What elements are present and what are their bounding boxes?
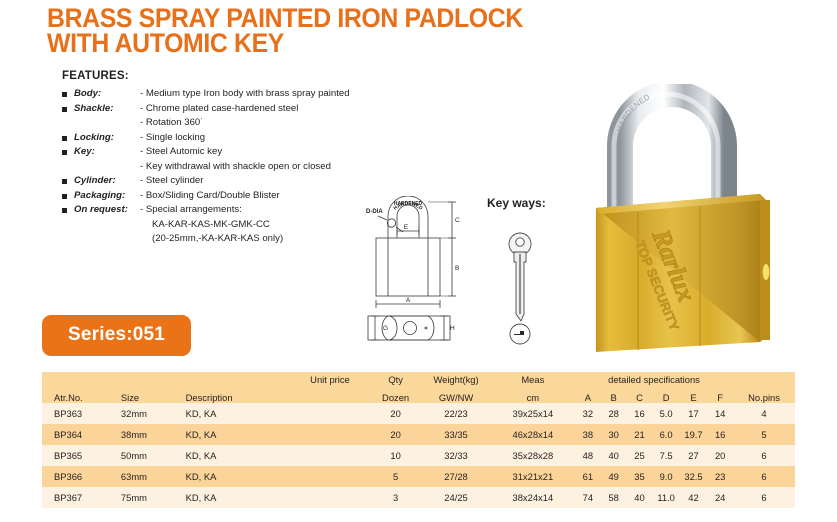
square-bullet-icon (62, 107, 67, 112)
square-bullet-icon (62, 136, 67, 141)
cell-spec-f: 23 (707, 466, 733, 487)
feature-label: Cylinder: (74, 175, 140, 187)
specifications-table: Unit price Qty Weight(kg) Meas detailed … (42, 372, 795, 508)
cell-atr-no: BP364 (42, 424, 109, 445)
header-atr-no: Atr.No. (42, 386, 109, 403)
key-blank-diagram (487, 222, 557, 347)
square-bullet-icon (62, 179, 67, 184)
cell-unit-price (290, 487, 370, 508)
cell-spec-e: 19.7 (680, 424, 707, 445)
dim-label-h: H (450, 325, 455, 332)
cell-weight: 22/23 (421, 403, 490, 424)
table-row: BP36550mmKD, KA1032/3335x28x284840257.52… (42, 445, 795, 466)
header-col-e: E (680, 386, 707, 403)
product-photo: HARDENED Rarlux TOP SECURITY (592, 84, 816, 366)
header-col-b: B (601, 386, 627, 403)
page-title-line-2: WITH AUTOMIC KEY (47, 31, 562, 56)
cell-size: 38mm (109, 424, 174, 445)
cell-unit-price (290, 466, 370, 487)
cell-spec-a: 32 (575, 403, 601, 424)
cell-spec-f: 20 (707, 445, 733, 466)
square-bullet-icon (62, 150, 67, 155)
dim-label-g: G (383, 325, 388, 332)
cell-spec-b: 30 (601, 424, 627, 445)
keyways-title: Key ways: (487, 196, 577, 210)
feature-row-packaging: Packaging: - Box/Sliding Card/Double Bli… (62, 190, 362, 202)
cell-atr-no: BP367 (42, 487, 109, 508)
header-detailed-specifications: detailed specifications (575, 372, 733, 386)
cell-spec-b: 58 (601, 487, 627, 508)
cell-spec-a: 74 (575, 487, 601, 508)
cell-spec-e: 27 (680, 445, 707, 466)
feature-row-key: Key: - Steel Automic key (62, 146, 362, 158)
header-unit-price: Unit price (290, 372, 370, 386)
header-col-f: F (707, 386, 733, 403)
cell-meas: 31x21x21 (491, 466, 575, 487)
feature-row-locking: Locking: - Single locking (62, 132, 362, 144)
header-col-c: C (627, 386, 653, 403)
table-header-row-bottom: Atr.No. Size Description Dozen GW/NW cm … (42, 386, 795, 403)
hardened-label: HARDENED (394, 201, 423, 207)
cell-atr-no: BP363 (42, 403, 109, 424)
feature-value: - Single locking (140, 132, 205, 144)
cell-size: 50mm (109, 445, 174, 466)
cell-spec-d: 9.0 (652, 466, 679, 487)
cell-no-pins: 6 (733, 466, 795, 487)
header-col-a: A (575, 386, 601, 403)
feature-subvalue: - Rotation 360˙ (140, 117, 362, 129)
header-meas-top: Meas (491, 372, 575, 386)
table-row: BP36775mmKD, KA324/2538x24x1474584011.04… (42, 487, 795, 508)
feature-row-body: Body: - Medium type Iron body with brass… (62, 88, 362, 100)
table-row: BP36438mmKD, KA2033/3546x28x143830216.01… (42, 424, 795, 445)
dim-label-a: A (406, 297, 411, 304)
cell-meas: 35x28x28 (491, 445, 575, 466)
feature-row-cylinder: Cylinder: - Steel cylinder (62, 175, 362, 187)
cell-description: KD, KA (174, 466, 290, 487)
feature-label: Body: (74, 88, 140, 100)
feature-label: On request: (74, 204, 140, 216)
feature-value: - Special arrangements: (140, 204, 242, 216)
cell-size: 32mm (109, 403, 174, 424)
cell-atr-no: BP366 (42, 466, 109, 487)
cell-spec-a: 38 (575, 424, 601, 445)
padlock-dimension-diagram: D-DIA E A C B G H HARDENED HARDENED (366, 196, 496, 344)
table-header-row-top: Unit price Qty Weight(kg) Meas detailed … (42, 372, 795, 386)
header-size: Size (109, 386, 174, 403)
cell-meas: 46x28x14 (491, 424, 575, 445)
header-description: Description (174, 386, 290, 403)
header-weight-top: Weight(kg) (421, 372, 490, 386)
cell-unit-price (290, 445, 370, 466)
table-row: BP36332mmKD, KA2022/2339x25x143228165.01… (42, 403, 795, 424)
feature-label: Shackle: (74, 103, 140, 115)
cell-meas: 38x24x14 (491, 487, 575, 508)
features-section: FEATURES: Body: - Medium type Iron body … (62, 70, 362, 248)
dim-label-c: C (455, 217, 460, 224)
table-head: Unit price Qty Weight(kg) Meas detailed … (42, 372, 795, 403)
header-meas-bottom: cm (491, 386, 575, 403)
cell-qty-dozen: 3 (370, 487, 421, 508)
cell-spec-f: 24 (707, 487, 733, 508)
cell-spec-f: 16 (707, 424, 733, 445)
cell-no-pins: 4 (733, 403, 795, 424)
cell-description: KD, KA (174, 403, 290, 424)
feature-subvalue: KA-KAR-KAS-MK-GMK-CC (152, 219, 362, 231)
feature-value: - Medium type Iron body with brass spray… (140, 88, 350, 100)
cell-weight: 32/33 (421, 445, 490, 466)
cell-weight: 27/28 (421, 466, 490, 487)
cell-spec-b: 49 (601, 466, 627, 487)
square-bullet-icon (62, 208, 67, 213)
cell-spec-e: 42 (680, 487, 707, 508)
cell-size: 63mm (109, 466, 174, 487)
cell-unit-price (290, 403, 370, 424)
feature-subvalue: (20-25mm,-KA-KAR-KAS only) (152, 233, 362, 245)
square-bullet-icon (62, 92, 67, 97)
cell-spec-b: 40 (601, 445, 627, 466)
cell-description: KD, KA (174, 424, 290, 445)
cell-spec-f: 14 (707, 403, 733, 424)
header-col-d: D (652, 386, 679, 403)
dim-label-d-dia: D-DIA (366, 209, 383, 215)
feature-row-on-request: On request: - Special arrangements: (62, 204, 362, 216)
cell-meas: 39x25x14 (491, 403, 575, 424)
feature-value: - Steel Automic key (140, 146, 222, 158)
cell-spec-e: 32.5 (680, 466, 707, 487)
keyways-section: Key ways: (487, 196, 577, 346)
cell-spec-b: 28 (601, 403, 627, 424)
feature-label: Locking: (74, 132, 140, 144)
cell-qty-dozen: 20 (370, 403, 421, 424)
cell-description: KD, KA (174, 445, 290, 466)
cell-no-pins: 6 (733, 445, 795, 466)
cell-spec-c: 40 (627, 487, 653, 508)
page-title: BRASS SPRAY PAINTED IRON PADLOCK WITH AU… (47, 6, 562, 56)
product-spec-sheet: BRASS SPRAY PAINTED IRON PADLOCK WITH AU… (0, 0, 837, 522)
cell-spec-a: 48 (575, 445, 601, 466)
cell-spec-e: 17 (680, 403, 707, 424)
cell-qty-dozen: 10 (370, 445, 421, 466)
cell-spec-d: 7.5 (652, 445, 679, 466)
header-no-pins: No.pins (733, 386, 795, 403)
cell-weight: 33/35 (421, 424, 490, 445)
cell-spec-c: 16 (627, 403, 653, 424)
header-weight-bottom: GW/NW (421, 386, 490, 403)
cell-spec-a: 61 (575, 466, 601, 487)
cell-spec-d: 11.0 (652, 487, 679, 508)
feature-value: - Steel cylinder (140, 175, 203, 187)
header-qty-top: Qty (370, 372, 421, 386)
feature-label: Packaging: (74, 190, 140, 202)
features-heading: FEATURES: (62, 70, 362, 82)
series-badge: Series:051 (42, 315, 191, 356)
cell-spec-d: 6.0 (652, 424, 679, 445)
padlock-photo-illustration: HARDENED Rarlux TOP SECURITY (592, 84, 816, 366)
cell-unit-price (290, 424, 370, 445)
square-bullet-icon (62, 194, 67, 199)
cell-weight: 24/25 (421, 487, 490, 508)
cell-spec-c: 25 (627, 445, 653, 466)
cell-description: KD, KA (174, 487, 290, 508)
cell-spec-c: 21 (627, 424, 653, 445)
feature-value: - Chrome plated case-hardened steel (140, 103, 298, 115)
technical-drawing: D-DIA E A C B G H HARDENED HARDENED (366, 196, 496, 344)
dim-label-b: B (455, 265, 459, 272)
header-qty-bottom: Dozen (370, 386, 421, 403)
cell-qty-dozen: 20 (370, 424, 421, 445)
table-body: BP36332mmKD, KA2022/2339x25x143228165.01… (42, 403, 795, 508)
feature-value: - Box/Sliding Card/Double Blister (140, 190, 280, 202)
cell-spec-c: 35 (627, 466, 653, 487)
cell-spec-d: 5.0 (652, 403, 679, 424)
cell-no-pins: 5 (733, 424, 795, 445)
feature-label: Key: (74, 146, 140, 158)
feature-subvalue: - Key withdrawal with shackle open or cl… (140, 161, 362, 173)
feature-row-shackle: Shackle: - Chrome plated case-hardened s… (62, 103, 362, 115)
cell-atr-no: BP365 (42, 445, 109, 466)
cell-size: 75mm (109, 487, 174, 508)
dim-label-e: E (404, 224, 409, 231)
cell-no-pins: 6 (733, 487, 795, 508)
table-row: BP36663mmKD, KA527/2831x21x216149359.032… (42, 466, 795, 487)
cell-qty-dozen: 5 (370, 466, 421, 487)
